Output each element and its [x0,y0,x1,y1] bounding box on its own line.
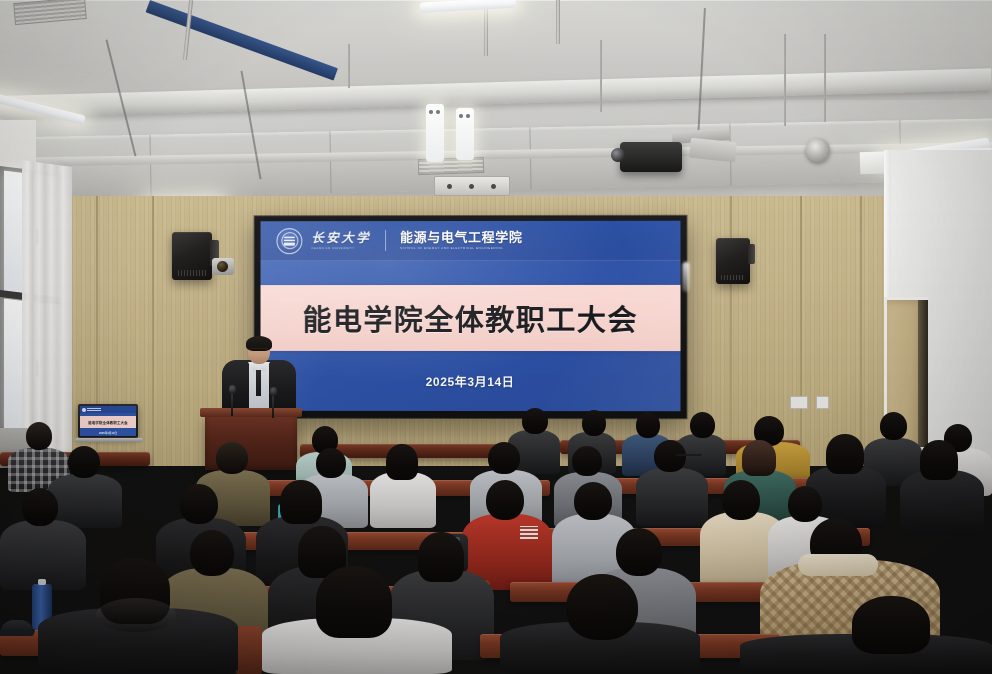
presenter-tie [256,370,261,396]
audience-person [742,440,776,476]
audience-person [22,488,58,526]
ptz-camera [212,258,234,275]
audience-person [566,574,638,640]
ceiling [0,0,992,215]
wall-speaker-right [716,238,750,284]
audience-person [826,434,864,474]
ceiling-projector [620,142,682,172]
audience-seating-area [0,408,992,674]
school-name-cn: 能源与电气工程学院 [400,231,522,244]
screen-edge-glare [683,262,690,292]
audience-person [880,412,907,440]
camera-lens-icon [217,261,228,272]
audience-person [280,480,322,524]
audience-person [574,482,612,520]
ceiling-pipe [556,0,560,44]
baseball-cap [0,620,34,636]
audience-person [616,528,662,576]
projector-lens-icon [611,148,625,162]
university-name-en: CHANG'AN UNIVERSITY [311,247,371,250]
wall-speaker-left [172,232,212,280]
hanging-tube-light [456,108,474,160]
audience-person [216,442,248,474]
auditorium-photo-scene: 长安大学 CHANG'AN UNIVERSITY 能源与电气工程学院 SCHOO… [0,0,992,674]
university-name-cn: 长安大学 [311,232,371,245]
header-divider [385,230,386,251]
audience-person [180,484,218,524]
audience-person [488,442,520,474]
audience-person [572,446,602,476]
audience-person [636,468,708,526]
slide-title-band: 能电学院全体教职工大会 [261,285,681,351]
ceiling-hanger-rod [348,44,350,88]
audience-person [190,530,234,576]
audience-person [316,448,346,478]
audience-person [316,566,392,638]
ceiling-hanger-rod [824,34,826,122]
projection-screen: 长安大学 CHANG'AN UNIVERSITY 能源与电气工程学院 SCHOO… [255,216,687,419]
audience-person [722,480,760,520]
slide-title: 能电学院全体教职工大会 [303,297,638,339]
bench-end-cap [236,626,262,674]
audience-person [26,422,52,450]
slide-date: 2025年3月14日 [261,373,681,390]
audience-person [582,410,606,436]
ceiling-hanger-rod [784,34,786,126]
ceiling-fan-unit [806,138,830,162]
university-crest-icon [276,228,302,254]
audience-person [486,480,524,520]
sweater-collar [798,554,878,576]
ceiling-junction-box [434,176,510,196]
school-name-en: SCHOOL OF ENERGY AND ELECTRICAL ENGINEER… [400,247,522,250]
audience-person [920,440,958,480]
audience-person [370,472,436,528]
audience-person [788,486,822,522]
speaker-bracket [748,244,755,264]
audience-person [636,412,660,438]
presenter-glasses-icon [250,348,268,353]
audience-person [852,596,930,654]
eyeglasses-icon [676,454,702,459]
university-name-block: 长安大学 CHANG'AN UNIVERSITY [311,232,371,250]
audience-person [68,446,100,478]
audience-person [522,408,548,434]
ceiling-hanger-rod [600,40,602,112]
hanging-tube-light [426,104,444,162]
school-name-block: 能源与电气工程学院 SCHOOL OF ENERGY AND ELECTRICA… [400,231,522,250]
flag-patch-icon [520,526,538,539]
presentation-slide: 长安大学 CHANG'AN UNIVERSITY 能源与电气工程学院 SCHOO… [261,221,681,411]
slide-header: 长安大学 CHANG'AN UNIVERSITY 能源与电气工程学院 SCHOO… [261,221,681,261]
audience-person [690,412,715,438]
audience-person [418,532,464,582]
audience-person [386,444,418,480]
